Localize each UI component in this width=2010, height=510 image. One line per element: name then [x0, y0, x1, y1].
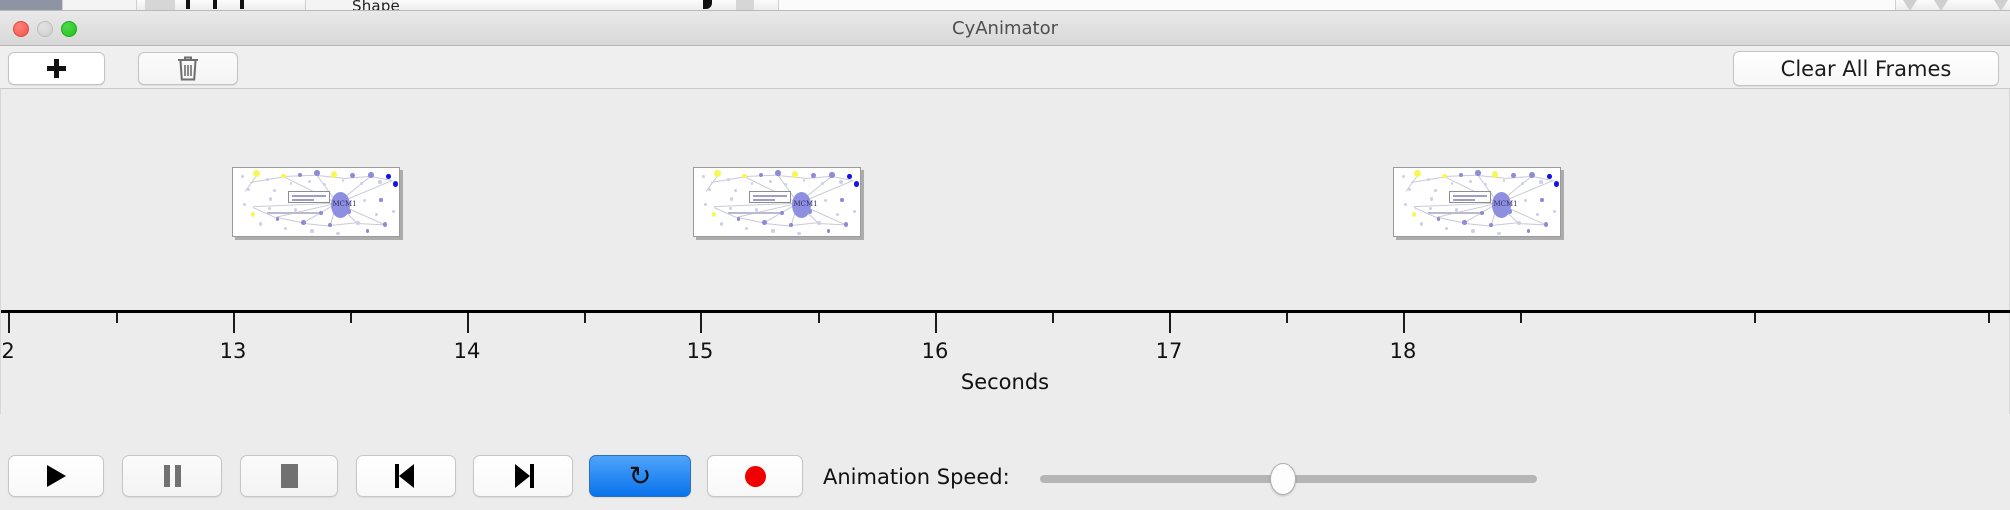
network-node: [247, 188, 250, 191]
network-node: [1462, 220, 1466, 225]
plus-icon: [47, 59, 66, 78]
stop-button[interactable]: [240, 455, 338, 497]
timeline-axis: [1, 310, 2010, 313]
clear-all-frames-button[interactable]: Clear All Frames: [1733, 51, 1999, 86]
network-node: [827, 229, 831, 233]
network-node: [1527, 229, 1531, 233]
network-caption-line: [267, 212, 319, 214]
network-node: [702, 175, 705, 179]
network-node: [1544, 222, 1548, 227]
network-node: [1437, 217, 1441, 221]
axis-tick-label: 14: [454, 339, 481, 363]
network-node: [368, 172, 374, 178]
trash-icon: [176, 55, 200, 82]
axis-tick-minor: [1286, 313, 1288, 323]
network-node: [1420, 222, 1423, 226]
network-node: [840, 198, 843, 202]
stop-icon: [281, 464, 298, 488]
network-caption-line: [728, 212, 780, 214]
network-node: [319, 211, 323, 215]
network-node: [792, 171, 798, 178]
network-node: [759, 173, 763, 177]
network-node: [314, 170, 319, 176]
page-title: CyAnimator: [0, 18, 2010, 39]
axis-tick-major: [467, 313, 469, 333]
network-node: [821, 182, 824, 185]
network-node: [737, 217, 741, 221]
loop-icon: ↻: [629, 463, 652, 490]
network-node: [308, 180, 311, 183]
play-button[interactable]: [8, 455, 104, 497]
play-icon: [47, 465, 66, 487]
network-node: [1451, 182, 1454, 185]
network-node: [393, 181, 398, 187]
network-node: [350, 173, 355, 178]
prev-frame-button[interactable]: [356, 455, 456, 497]
network-edge: [1465, 223, 1492, 226]
axis-tick-label: 15: [687, 339, 714, 363]
network-node: [784, 183, 787, 186]
cyanimator-window: Shape CyAnimator Clear All: [0, 0, 2010, 510]
network-node: [789, 223, 793, 227]
network-annotation-box: [288, 191, 330, 203]
axis-tick-major: [1169, 313, 1171, 333]
network-node: [269, 197, 272, 200]
network-node: [310, 229, 313, 233]
network-node: [276, 217, 280, 221]
add-frame-button[interactable]: [8, 52, 105, 85]
record-icon: [745, 466, 766, 487]
title-bar: CyAnimator: [0, 11, 2010, 46]
network-node: [1511, 173, 1516, 178]
axis-tick-minor: [116, 313, 118, 323]
network-edge: [765, 223, 792, 226]
network-node: [824, 199, 827, 202]
network-node: [342, 179, 345, 182]
background-window-strip: Shape: [0, 0, 2010, 11]
network-node: [1445, 227, 1448, 230]
network-node: [1442, 174, 1446, 179]
network-node: [1524, 199, 1527, 202]
network-node: [1536, 213, 1539, 217]
network-edge: [791, 223, 818, 226]
network-node: [1492, 171, 1498, 178]
axis-tick-major: [700, 313, 702, 333]
network-node: [803, 179, 806, 182]
network-node: [1529, 172, 1535, 178]
network-node: [392, 210, 395, 213]
axis-tick-label: 17: [1156, 339, 1183, 363]
network-node: [1484, 183, 1487, 186]
network-node: [762, 220, 766, 225]
network-edge: [1491, 223, 1518, 226]
network-node: [1402, 175, 1405, 179]
network-node: [366, 229, 370, 233]
network-preview: MCM1: [694, 168, 860, 236]
network-preview: MCM1: [1394, 168, 1560, 236]
network-node: [854, 181, 859, 187]
network-node: [712, 212, 716, 216]
network-node: [829, 172, 835, 178]
animation-speed-slider[interactable]: [1040, 475, 1537, 483]
network-node: [253, 170, 259, 177]
network-node: [1434, 189, 1437, 192]
network-node: [378, 180, 381, 184]
network-node: [727, 178, 730, 181]
network-node: [1553, 210, 1556, 213]
network-node: [363, 199, 366, 202]
axis-tick-minor: [350, 313, 352, 323]
axis-tick-minor: [1052, 313, 1054, 323]
network-edge: [330, 223, 357, 226]
network-node: [769, 180, 772, 183]
network-hub-label: MCM1: [793, 200, 817, 208]
axis-tick-major: [1403, 313, 1405, 333]
axis-tick-minor: [818, 313, 820, 323]
network-node: [1429, 207, 1432, 210]
transport-bar: ↻ Animation Speed:: [0, 442, 2010, 510]
network-edge: [304, 223, 331, 226]
axis-title: Seconds: [1, 370, 2009, 394]
network-node: [714, 170, 720, 177]
network-edge: [738, 217, 765, 223]
axis-tick-label: 2: [1, 339, 14, 363]
network-node: [1469, 180, 1472, 183]
network-node: [729, 207, 732, 210]
network-node: [836, 213, 839, 217]
network-node: [775, 170, 780, 176]
axis-tick-minor: [1520, 313, 1522, 323]
axis-tick-minor: [584, 313, 586, 323]
network-node: [1404, 203, 1407, 206]
network-node: [745, 227, 748, 230]
network-node: [266, 178, 269, 181]
network-node: [839, 180, 842, 184]
network-node: [268, 207, 271, 210]
network-node: [1475, 170, 1480, 176]
slider-thumb[interactable]: [1270, 463, 1296, 495]
loop-button[interactable]: ↻: [589, 455, 691, 497]
network-node: [323, 183, 326, 186]
network-annotation-box: [1449, 191, 1491, 203]
network-node: [730, 197, 733, 200]
network-node: [1427, 178, 1430, 181]
network-node: [281, 174, 285, 179]
axis-tick-major: [233, 313, 235, 333]
axis-tick-major: [8, 313, 10, 333]
next-frame-button[interactable]: [473, 455, 573, 497]
network-node: [1503, 179, 1506, 182]
network-node: [1430, 197, 1433, 200]
network-node: [1521, 182, 1524, 185]
network-node: [1480, 211, 1484, 215]
network-node: [331, 171, 337, 178]
axis-tick-label: 13: [220, 339, 247, 363]
axis-tick-minor: [1754, 313, 1756, 323]
network-node: [375, 213, 378, 217]
network-node: [1414, 170, 1420, 177]
network-node: [284, 227, 287, 230]
axis-tick-label: 18: [1390, 339, 1417, 363]
network-node: [336, 232, 339, 236]
network-node: [1489, 223, 1493, 227]
network-node: [298, 173, 302, 177]
network-node: [1471, 229, 1474, 233]
network-node: [1497, 232, 1500, 236]
network-node: [328, 223, 332, 227]
network-node: [1547, 174, 1551, 179]
skip-forward-icon: [512, 464, 534, 488]
network-node: [734, 189, 737, 192]
network-node: [1408, 188, 1411, 191]
network-node: [817, 221, 820, 225]
network-node: [356, 221, 359, 225]
network-node: [720, 222, 723, 226]
network-node: [811, 173, 816, 178]
network-node: [241, 175, 244, 179]
network-node: [360, 182, 363, 185]
frame-thumbnail-3[interactable]: MCM1: [1393, 167, 1561, 237]
network-node: [1539, 180, 1542, 184]
clear-all-frames-label: Clear All Frames: [1781, 57, 1952, 81]
network-annotation-box: [749, 191, 791, 203]
network-node: [379, 198, 382, 202]
delete-frame-button[interactable]: [138, 52, 238, 85]
network-node: [742, 174, 746, 179]
frame-thumbnail-2[interactable]: MCM1: [693, 167, 861, 237]
network-node: [301, 220, 305, 225]
network-node: [243, 203, 246, 206]
network-node: [1459, 173, 1463, 177]
pause-icon: [164, 465, 181, 487]
axis-tick-major: [935, 313, 937, 333]
axis-tick-minor: [1988, 313, 1990, 323]
frame-thumbnail-1[interactable]: MCM1: [232, 167, 400, 237]
network-caption-line: [1428, 212, 1480, 214]
network-node: [259, 222, 262, 226]
network-node: [771, 229, 774, 233]
network-preview: MCM1: [233, 168, 399, 236]
pause-button[interactable]: [122, 455, 222, 497]
network-node: [847, 174, 851, 179]
background-menu-label: Shape: [352, 0, 400, 11]
animation-speed-label: Animation Speed:: [823, 465, 1010, 489]
record-button[interactable]: [707, 455, 803, 497]
network-node: [844, 222, 848, 227]
network-node: [1540, 198, 1543, 202]
network-edge: [277, 217, 304, 223]
network-node: [1412, 212, 1416, 216]
network-hub-label: MCM1: [332, 200, 356, 208]
network-node: [383, 222, 387, 227]
timeline-panel[interactable]: MCM1MCM1MCM1 2131415161718 Seconds: [0, 89, 2010, 414]
network-node: [1554, 181, 1559, 187]
network-node: [751, 182, 754, 185]
network-edge: [1438, 217, 1465, 223]
network-node: [704, 203, 707, 206]
network-node: [853, 210, 856, 213]
skip-back-icon: [395, 464, 417, 488]
network-node: [797, 232, 800, 236]
network-node: [273, 189, 276, 192]
network-node: [251, 212, 255, 216]
network-node: [386, 174, 390, 179]
network-node: [780, 211, 784, 215]
network-node: [290, 182, 293, 185]
axis-tick-label: 16: [922, 339, 949, 363]
network-node: [1517, 221, 1520, 225]
network-hub-label: MCM1: [1493, 200, 1517, 208]
toolbar: Clear All Frames: [0, 46, 2010, 89]
network-node: [708, 188, 711, 191]
